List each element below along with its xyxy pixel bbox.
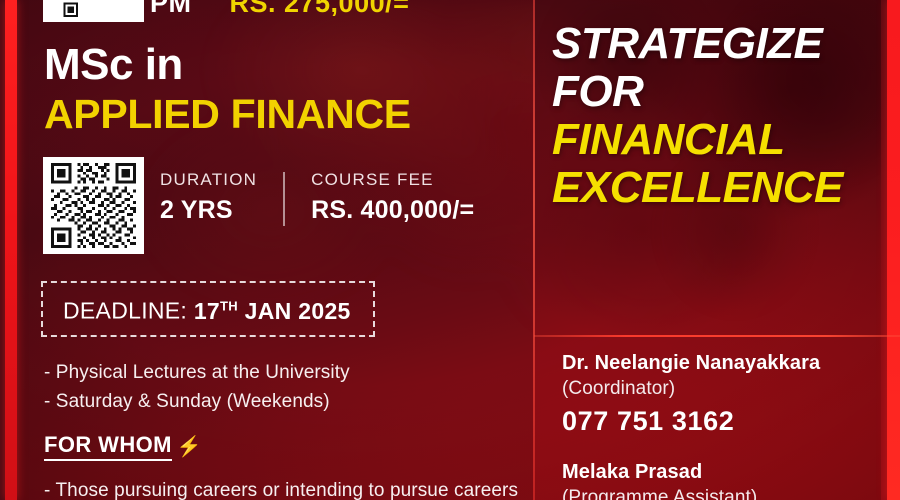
features-list: - Physical Lectures at the University - … (44, 358, 514, 416)
list-item: - Saturday & Sunday (Weekends) (44, 387, 514, 416)
slogan-line-4: EXCELLENCE (552, 164, 882, 212)
slogan-line-1: STRATEGIZE (552, 20, 882, 68)
contact-role: (Coordinator) (562, 376, 882, 402)
duration-label: DURATION (160, 168, 257, 192)
contact-entry: Melaka Prasad (Programme Assistant) (562, 459, 882, 500)
contact-name: Melaka Prasad (562, 459, 882, 485)
duration-value: 2 YRS (160, 194, 257, 226)
contact-phone[interactable]: 077 751 3162 (562, 403, 882, 439)
deadline-rest: JAN 2025 (245, 298, 351, 324)
lightning-bolt-icon: ⚡ (177, 437, 202, 457)
list-item: - Those pursuing careers or intending to… (44, 477, 534, 500)
duration-cell: DURATION 2 YRS (160, 168, 283, 226)
qr-code-icon-top[interactable] (43, 0, 144, 22)
page-title-line2: APPLIED FINANCE (44, 92, 411, 136)
deadline-badge: DEADLINE: 17TH JAN 2025 (41, 281, 375, 337)
deadline-label: DEADLINE: (63, 298, 187, 324)
qr-code-icon-main[interactable] (43, 157, 144, 254)
contact-name: Dr. Neelangie Nanayakkara (562, 350, 882, 376)
page-title-line1: MSc in (44, 42, 183, 88)
left-panel: PM RS. 275,000/= (0, 0, 533, 500)
for-whom-label: FOR WHOM (44, 432, 172, 461)
top-strip-right-fragment: RS. 275,000/= (230, 0, 410, 16)
list-item: - Physical Lectures at the University (44, 358, 514, 387)
top-strip-left-fragment: PM (150, 0, 192, 16)
for-whom-heading: FOR WHOM ⚡ (44, 432, 202, 461)
course-fee-value: RS. 400,000/= (311, 194, 474, 226)
slogan-block: STRATEGIZE FOR FINANCIAL EXCELLENCE (552, 20, 882, 212)
contact-entry: Dr. Neelangie Nanayakkara (Coordinator) … (562, 350, 882, 439)
top-cut-strip: PM RS. 275,000/= (150, 0, 530, 16)
course-fee-cell: COURSE FEE RS. 400,000/= (285, 168, 500, 226)
contact-role: (Programme Assistant) (562, 485, 882, 500)
slogan-line-3: FINANCIAL (552, 116, 882, 164)
deadline-ordinal: TH (220, 298, 238, 313)
poster-canvas: PM RS. 275,000/= (0, 0, 900, 500)
for-whom-list: - Those pursuing careers or intending to… (44, 477, 534, 500)
slogan-line-2: FOR (552, 68, 882, 116)
meta-row: DURATION 2 YRS COURSE FEE RS. 400,000/= (160, 168, 500, 226)
deadline-text: DEADLINE: 17TH JAN 2025 (63, 292, 351, 325)
course-fee-label: COURSE FEE (311, 168, 474, 192)
contact-spacer (562, 439, 882, 459)
contacts-block: Dr. Neelangie Nanayakkara (Coordinator) … (562, 350, 882, 500)
deadline-day: 17 (194, 298, 220, 324)
